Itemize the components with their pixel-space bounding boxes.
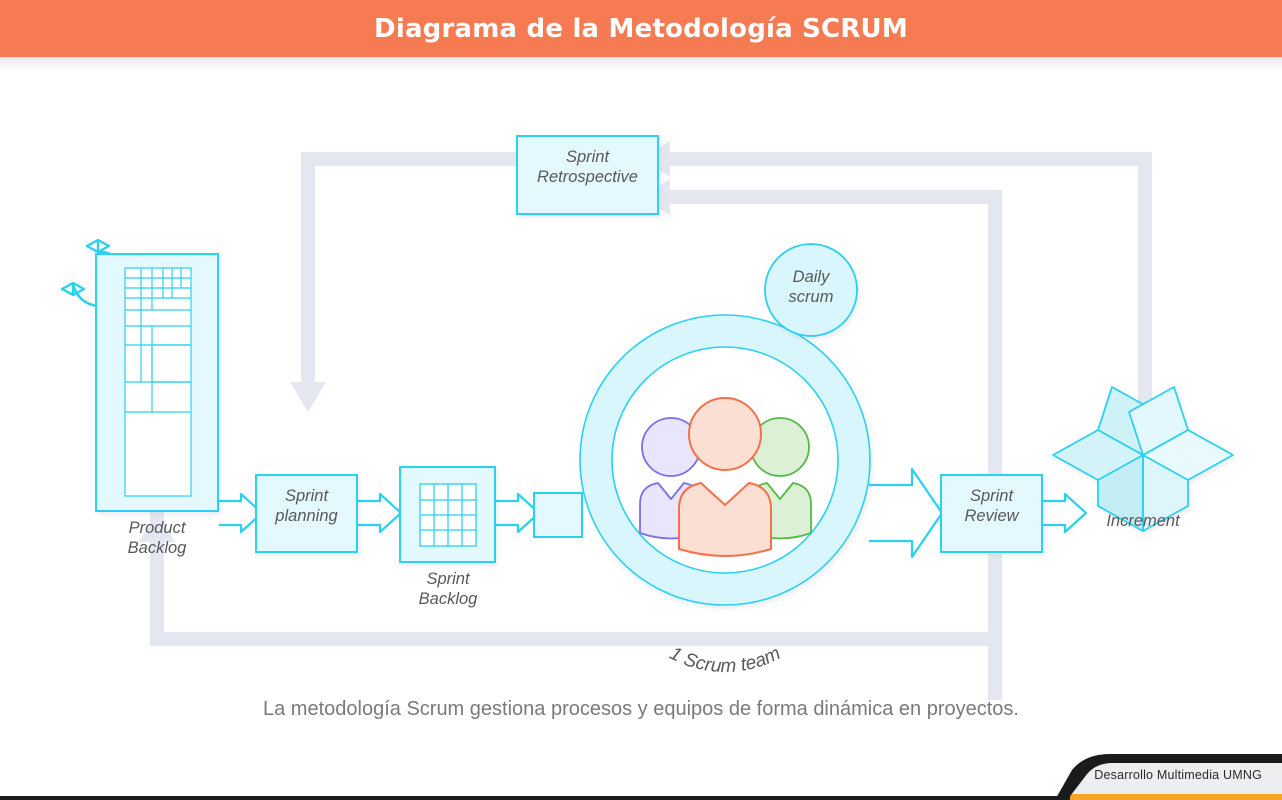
page-footer: Desarrollo Multimedia UMNG	[0, 754, 1282, 800]
arrow-team-to-sprint-review	[869, 469, 942, 557]
product-backlog-rows	[125, 268, 191, 496]
node-scrum-team[interactable]: 1 Scrum team	[580, 315, 870, 677]
connector-retrospective-to-planning	[290, 152, 529, 412]
node-increment[interactable]	[1053, 387, 1233, 531]
diagram-caption: La metodología Scrum gestiona procesos y…	[0, 698, 1282, 721]
sprint-backlog-grid	[420, 484, 476, 546]
footer-base-bar	[0, 796, 1070, 800]
footer-label: Desarrollo Multimedia UMNG	[1094, 768, 1262, 782]
arrow-planning-to-sprint-backlog	[358, 494, 401, 532]
footer-accent-line	[1067, 794, 1282, 800]
arrow-sprint-backlog-to-team	[496, 494, 539, 532]
node-product-backlog[interactable]	[62, 240, 218, 511]
node-sprint-retrospective[interactable]	[517, 136, 658, 214]
scrum-team-arc-label: 1 Scrum team	[666, 643, 784, 677]
node-sprint-backlog[interactable]	[400, 467, 495, 562]
scrum-diagram: 1 Scrum team Sprint planning Sprint Retr…	[0, 57, 1282, 747]
node-sprint-review[interactable]	[941, 475, 1042, 552]
page-header: Diagrama de la Metodología SCRUM	[0, 0, 1282, 57]
node-sprint-planning[interactable]	[256, 475, 357, 552]
team-inlet-tab	[534, 493, 582, 537]
node-daily-scrum[interactable]	[765, 244, 857, 336]
arrow-review-to-increment	[1043, 494, 1086, 532]
page-title: Diagrama de la Metodología SCRUM	[374, 14, 908, 44]
